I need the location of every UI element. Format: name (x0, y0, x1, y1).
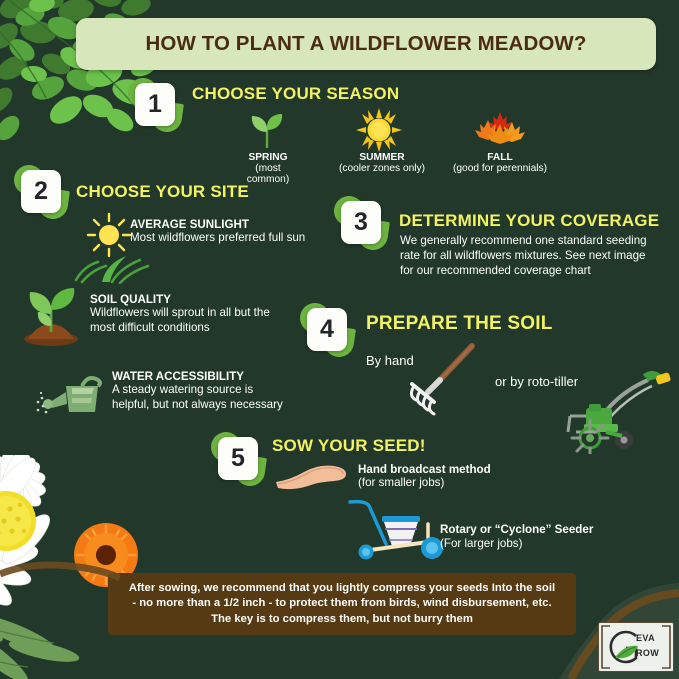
step-title-2: CHOOSE YOUR SITE (76, 182, 249, 202)
step-number: 5 (231, 446, 245, 471)
hand-broadcast-heading: Hand broadcast method (358, 463, 491, 476)
sunlight-body: Most wildflowers preferred full sun (130, 231, 310, 246)
soil-heading: SOIL QUALITY (90, 293, 171, 306)
rotary-seeder-icon (344, 496, 450, 560)
footer-line-3: The key is to compress them, but not bur… (211, 613, 473, 625)
step-badge-4: 4 (300, 303, 354, 357)
rotary-seeder-note: (For larger jobs) (440, 537, 522, 552)
brand-logo[interactable]: EVA ROW (598, 622, 674, 672)
badge-card: 3 (341, 201, 381, 244)
sprout-in-soil-icon (18, 284, 84, 346)
footer-line-2: - no more than a 1/2 inch - to protect t… (132, 597, 551, 609)
hand-broadcast-note: (for smaller jobs) (358, 476, 444, 491)
rotary-seeder-heading: Rotary or “Cyclone” Seeder (440, 523, 593, 536)
season-fall: FALL (good for perennials) (444, 152, 556, 174)
watering-can-icon (36, 372, 108, 420)
water-heading: WATER ACCESSIBILITY (112, 370, 244, 383)
step-title-4: PREPARE THE SOIL (366, 313, 553, 335)
footer-note-banner: After sowing, we recommend that you ligh… (108, 573, 576, 635)
step-badge-5: 5 (211, 432, 265, 486)
sun-icon (356, 108, 402, 152)
badge-card: 2 (21, 170, 61, 213)
coverage-body: We generally recommend one standard seed… (400, 234, 654, 278)
step-title-5: SOW YOUR SEED! (272, 436, 426, 456)
season-name: FALL (444, 152, 556, 163)
logo-brackets-icon (596, 620, 676, 674)
step-number: 4 (320, 317, 334, 342)
seedling-icon (246, 110, 288, 150)
infographic-canvas: HOW TO PLANT A WILDFLOWER MEADOW? 1 CHOO… (0, 0, 679, 679)
badge-card: 1 (135, 83, 175, 126)
open-hand-icon (274, 460, 350, 492)
season-note: (good for perennials) (444, 163, 556, 174)
step-title-3: DETERMINE YOUR COVERAGE (399, 211, 659, 231)
left-ribbon-decoration (0, 560, 120, 600)
roto-tiller-icon (548, 368, 672, 454)
step-number: 2 (34, 179, 48, 204)
water-body: A steady watering source is helpful, but… (112, 383, 287, 413)
step-number: 1 (148, 92, 162, 117)
step-badge-3: 3 (334, 196, 388, 250)
footer-note-text: After sowing, we recommend that you ligh… (119, 581, 565, 626)
page-title-banner: HOW TO PLANT A WILDFLOWER MEADOW? (76, 18, 656, 70)
maple-leaves-icon (472, 110, 528, 150)
sunlight-heading: AVERAGE SUNLIGHT (130, 218, 249, 231)
step-badge-1: 1 (128, 78, 182, 132)
season-spring: SPRING (most common) (238, 152, 298, 185)
step-title-1: CHOOSE YOUR SEASON (192, 84, 399, 104)
season-name: SPRING (238, 152, 298, 163)
footer-line-1: After sowing, we recommend that you ligh… (129, 582, 555, 594)
season-note: (cooler zones only) (334, 163, 430, 174)
badge-card: 4 (307, 308, 347, 351)
step-number: 3 (354, 210, 368, 235)
season-name: SUMMER (334, 152, 430, 163)
page-title: HOW TO PLANT A WILDFLOWER MEADOW? (146, 32, 587, 56)
rake-icon (400, 340, 480, 420)
step-badge-2: 2 (14, 165, 68, 219)
soil-body: Wildflowers will sprout in all but the m… (90, 306, 270, 336)
season-summer: SUMMER (cooler zones only) (334, 152, 430, 174)
badge-card: 5 (218, 437, 258, 480)
